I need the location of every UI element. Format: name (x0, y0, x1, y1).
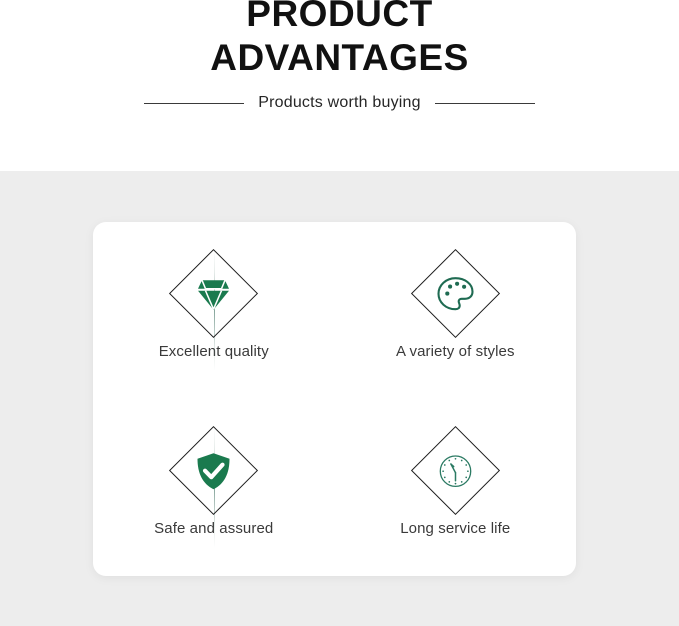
page-title-line1: PRODUCT (246, 0, 432, 34)
subtitle-rule-left (144, 103, 244, 104)
gem-icon (186, 265, 242, 321)
diamond-frame (169, 248, 258, 337)
palette-icon (427, 265, 483, 321)
features-grid: Excellent quality A variety of styles (93, 222, 576, 576)
diamond-frame (411, 248, 500, 337)
feature-item-long-service-life[interactable]: Long service life (335, 399, 577, 576)
page-title-line2: ADVANTAGES (0, 36, 679, 80)
diamond-frame (169, 425, 258, 514)
page-header: PRODUCT ADVANTAGES Products worth buying (0, 0, 679, 171)
clock-icon (427, 442, 483, 498)
page-title: PRODUCT ADVANTAGES (0, 0, 679, 80)
shield-check-icon (186, 442, 242, 498)
feature-label: Long service life (400, 520, 510, 537)
feature-item-variety-of-styles[interactable]: A variety of styles (335, 222, 577, 399)
diamond-frame (411, 425, 500, 514)
subtitle-rule-right (435, 103, 535, 104)
feature-item-excellent-quality[interactable]: Excellent quality (93, 222, 335, 399)
feature-item-safe-and-assured[interactable]: Safe and assured (93, 399, 335, 576)
features-card: Excellent quality A variety of styles (93, 222, 576, 576)
subtitle-row: Products worth buying (0, 94, 679, 112)
feature-label: A variety of styles (396, 343, 515, 360)
page-subtitle: Products worth buying (258, 94, 421, 112)
